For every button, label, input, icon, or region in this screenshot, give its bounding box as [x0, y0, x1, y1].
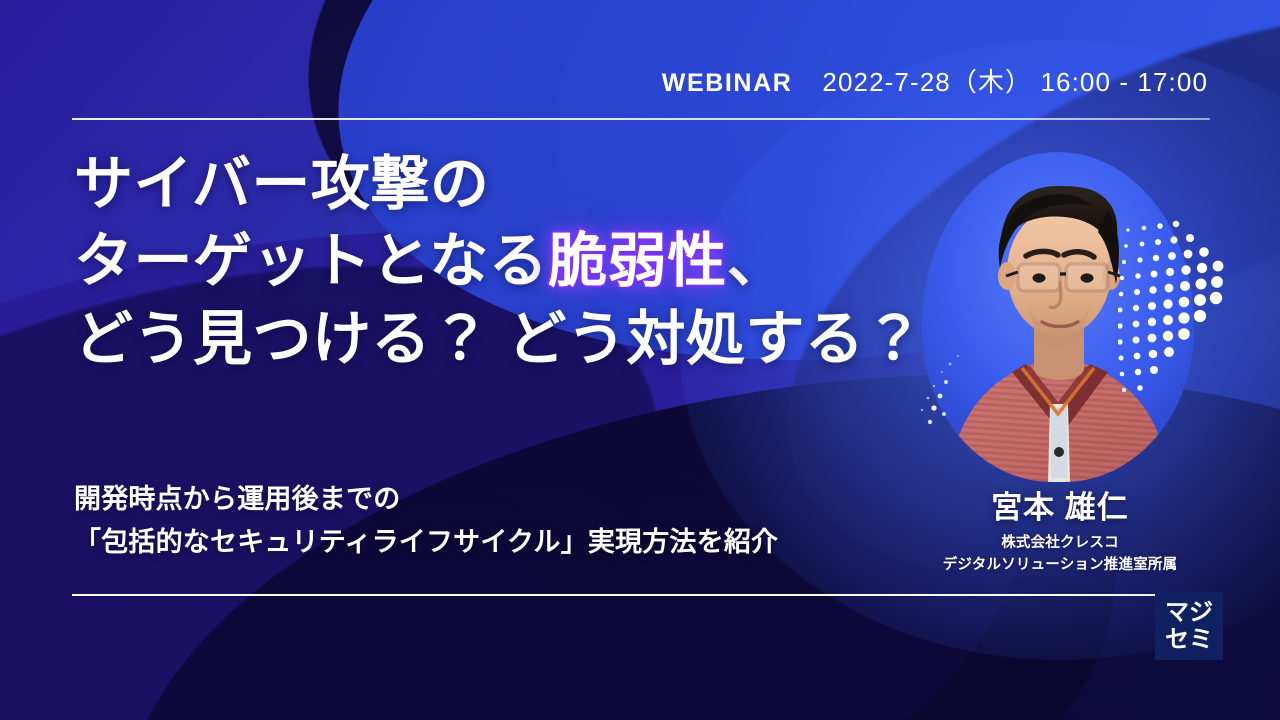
title-line-2-post: 、 — [727, 228, 787, 294]
subtitle-line-1: 開発時点から運用後までの — [74, 478, 778, 521]
speaker-name: 宮本 雄仁 — [880, 482, 1240, 527]
banner-header: WEBINAR 2022-7-28（木） 16:00 - 17:00 — [72, 62, 1208, 99]
webinar-kicker: WEBINAR — [662, 69, 793, 98]
avatar — [922, 152, 1194, 482]
divider-bottom — [72, 594, 1210, 596]
speaker-affiliation: 株式会社クレスコ デジタルソリューション推進室所属 — [880, 533, 1240, 577]
divider-top — [72, 118, 1210, 120]
title-highlight-vulnerability: 脆弱性 — [548, 228, 727, 294]
webinar-banner: WEBINAR 2022-7-28（木） 16:00 - 17:00 サイバー攻… — [0, 0, 1280, 720]
page-subtitle: 開発時点から運用後までの 「包括的なセキュリティライフサイクル」実現方法を紹介 — [74, 478, 778, 563]
title-line-2-pre: ターゲットとなる — [74, 228, 548, 294]
webinar-datetime: 2022-7-28（木） 16:00 - 17:00 — [822, 62, 1208, 99]
speaker-company: 株式会社クレスコ — [880, 533, 1240, 555]
speaker-portrait-wrap — [922, 152, 1194, 482]
logo-line-1: マジ — [1165, 601, 1213, 625]
majisemi-logo[interactable]: マジ セミ — [1155, 592, 1223, 660]
speaker-department: デジタルソリューション推進室所属 — [880, 555, 1240, 577]
speaker-info: 宮本 雄仁 株式会社クレスコ デジタルソリューション推進室所属 — [880, 482, 1240, 577]
logo-line-2: セミ — [1165, 628, 1213, 652]
subtitle-line-2: 「包括的なセキュリティライフサイクル」実現方法を紹介 — [74, 521, 778, 564]
title-line-1: サイバー攻撃の — [74, 146, 924, 223]
page-title: サイバー攻撃の ターゲットとなる脆弱性、 どう見つける？ どう対処する？ — [74, 146, 924, 378]
title-line-3: どう見つける？ どう対処する？ — [74, 301, 924, 378]
title-line-2: ターゲットとなる脆弱性、 — [74, 223, 924, 300]
portrait-illustration — [922, 152, 1194, 482]
